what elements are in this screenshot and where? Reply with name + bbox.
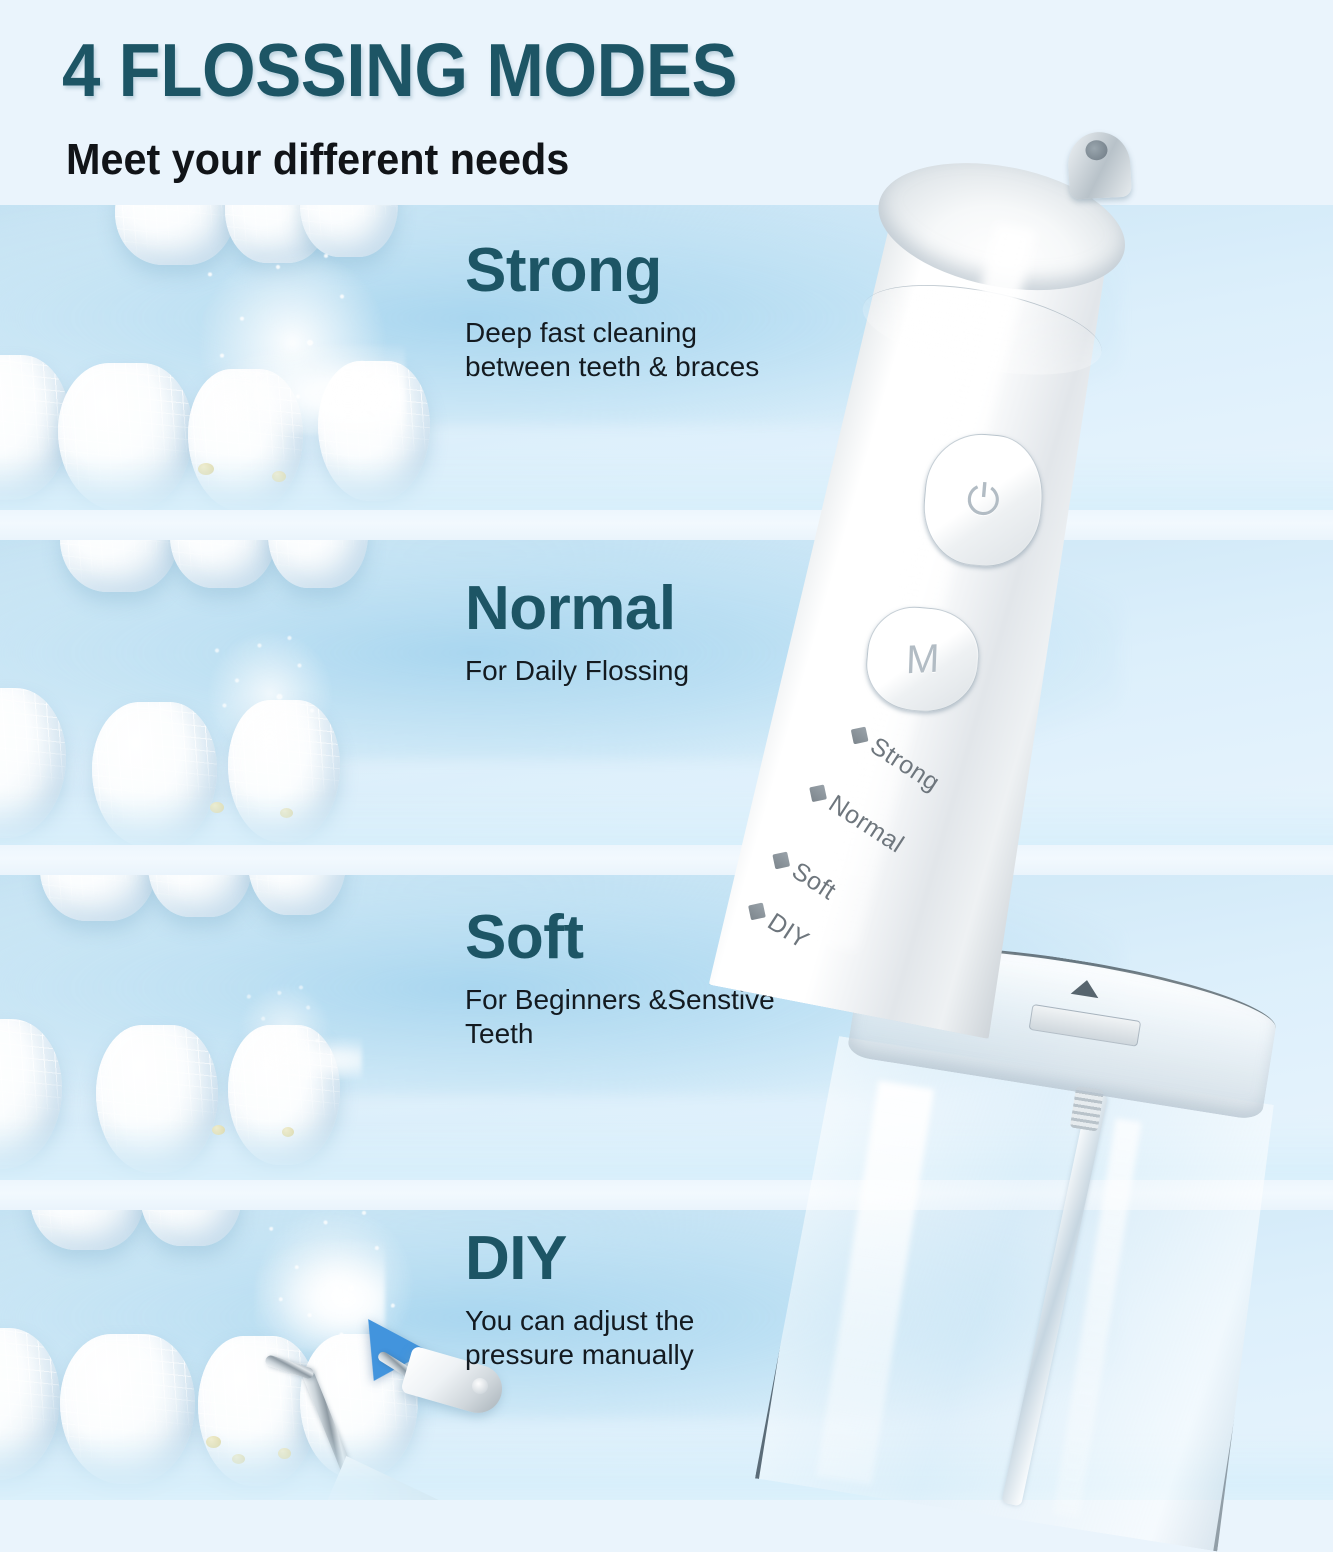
led-indicator-icon: [772, 852, 790, 870]
mode-indicator-normal: Normal: [804, 777, 909, 859]
mode-button[interactable]: M: [862, 603, 983, 716]
led-indicator-icon: [809, 784, 827, 802]
nozzle-jet-hole: [1085, 140, 1108, 161]
led-indicator-icon: [748, 902, 766, 920]
led-indicator-icon: [851, 727, 869, 745]
mode-indicator-soft: Soft: [767, 844, 841, 906]
nozzle-head: [1067, 131, 1132, 200]
mode-m-icon: M: [866, 605, 979, 713]
power-button[interactable]: ⏻: [919, 429, 1048, 571]
device-handle: ⏻ M Strong Normal Soft DIY: [711, 89, 1177, 1030]
water-flosser-device: ⏻ M Strong Normal Soft DIY: [0, 0, 1333, 1500]
mode-indicator-label: DIY: [762, 908, 814, 956]
mode-indicator-list: Strong Normal Soft DIY: [742, 723, 1014, 1002]
mode-indicator-label: Soft: [786, 857, 841, 907]
mode-indicator-diy: DIY: [743, 895, 814, 955]
power-icon: ⏻: [920, 430, 1047, 570]
device-water-tank: [755, 923, 1307, 1550]
mode-indicator-label: Normal: [823, 790, 909, 860]
